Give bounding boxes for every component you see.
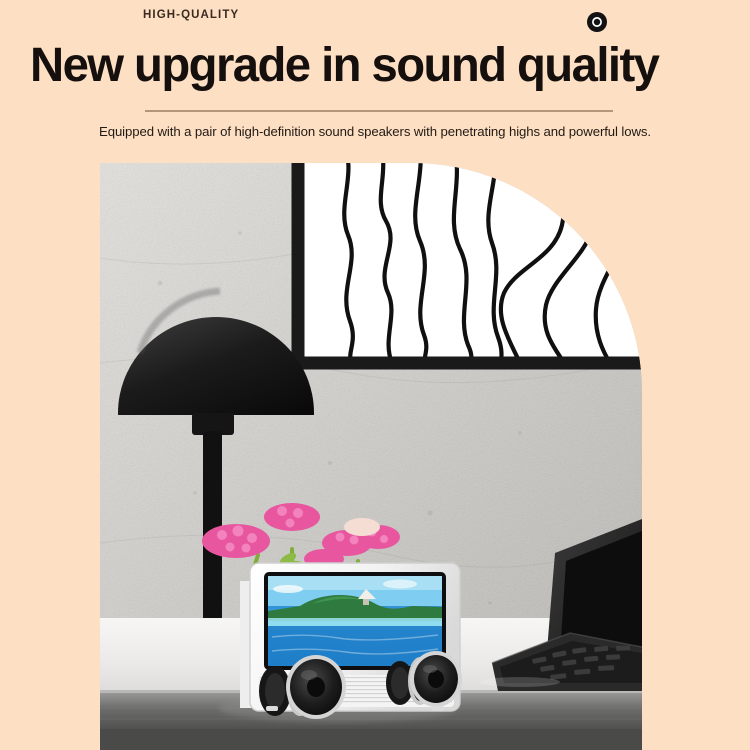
product-photo — [100, 163, 642, 750]
page-title: New upgrade in sound quality — [30, 40, 720, 92]
subtitle: Equipped with a pair of high-definition … — [0, 124, 750, 139]
framed-artwork — [298, 163, 642, 363]
speaker-device — [218, 563, 462, 722]
divider — [145, 110, 613, 112]
product-banner: HIGH-QUALITY New upgrade in sound qualit… — [0, 0, 750, 750]
vinyl-record-icon — [586, 11, 608, 33]
island-screen-image — [268, 576, 442, 666]
eyebrow-label: HIGH-QUALITY — [143, 9, 239, 21]
